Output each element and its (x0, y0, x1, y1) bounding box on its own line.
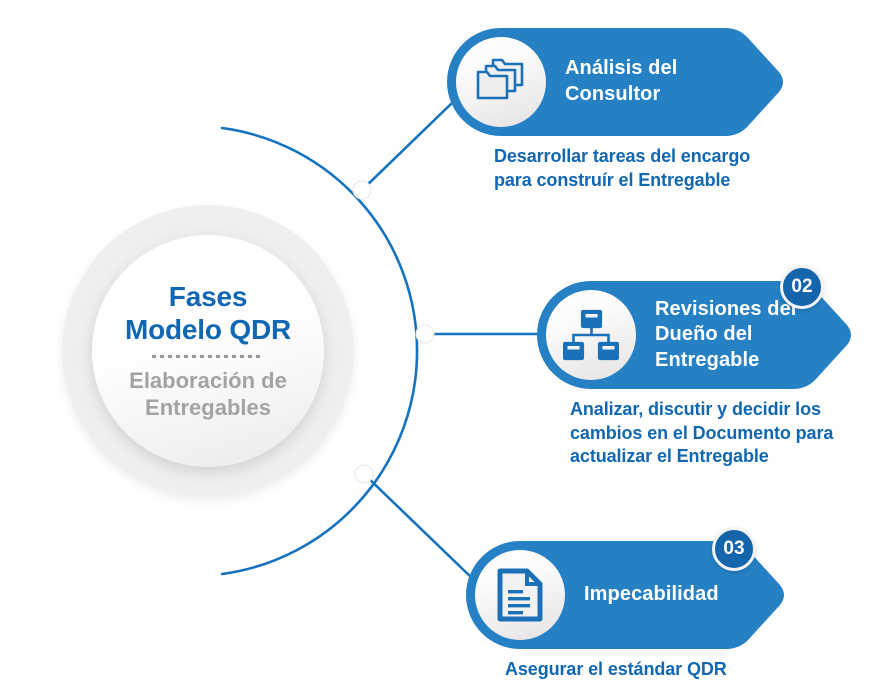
hub-subtitle-line1: Elaboración de (129, 368, 287, 394)
hub-dotted-divider (152, 355, 264, 358)
step-3-title-line1: Impecabilidad (584, 582, 719, 608)
hub-subtitle: Elaboración de Entregables (129, 368, 287, 421)
step-3-description: Asegurar el estándar QDR (505, 658, 805, 682)
folders-icon (456, 37, 546, 127)
step-3-banner[interactable]: Impecabilidad 03 (466, 541, 788, 649)
step-1[interactable]: Análisis del Consultor 01 Desarrollar ta… (447, 28, 787, 136)
hub-title: Fases Modelo QDR (125, 281, 291, 347)
step-2-title-line1: Revisiones del (655, 297, 796, 323)
step-2-title: Revisiones del Dueño del Entregable (655, 281, 796, 389)
step-1-title-line2: Consultor (565, 82, 677, 108)
step-3[interactable]: Impecabilidad 03 Asegurar el estándar QD… (466, 541, 788, 649)
step-2-title-line2: Dueño del (655, 322, 796, 348)
hub-title-line2: Modelo QDR (125, 314, 291, 347)
step-1-title: Análisis del Consultor (565, 28, 677, 136)
hub-center: Fases Modelo QDR Elaboración de Entregab… (92, 235, 324, 467)
step-2-banner[interactable]: Revisiones del Dueño del Entregable 02 (537, 281, 855, 389)
document-icon (475, 550, 565, 640)
hub-subtitle-line2: Entregables (129, 395, 287, 421)
branch-line-3 (364, 474, 474, 580)
junction-node-2 (416, 325, 434, 343)
step-3-number-badge: 03 (712, 527, 756, 571)
step-2-description: Analizar, discutir y decidir los cambios… (570, 398, 850, 469)
junction-node-3 (355, 465, 373, 483)
step-1-banner[interactable]: Análisis del Consultor 01 (447, 28, 787, 136)
infographic-canvas: Fases Modelo QDR Elaboración de Entregab… (0, 0, 889, 693)
step-3-title: Impecabilidad (584, 541, 719, 649)
step-2[interactable]: Revisiones del Dueño del Entregable 02 A… (537, 281, 855, 389)
step-2-number-badge: 02 (780, 265, 824, 309)
step-1-title-line1: Análisis del (565, 56, 677, 82)
step-2-title-line3: Entregable (655, 348, 796, 374)
hub-title-line1: Fases (125, 281, 291, 314)
hierarchy-icon (546, 290, 636, 380)
branch-line-1 (362, 103, 452, 190)
step-1-description: Desarrollar tareas del encargo para cons… (494, 145, 764, 192)
junction-node-1 (353, 181, 371, 199)
